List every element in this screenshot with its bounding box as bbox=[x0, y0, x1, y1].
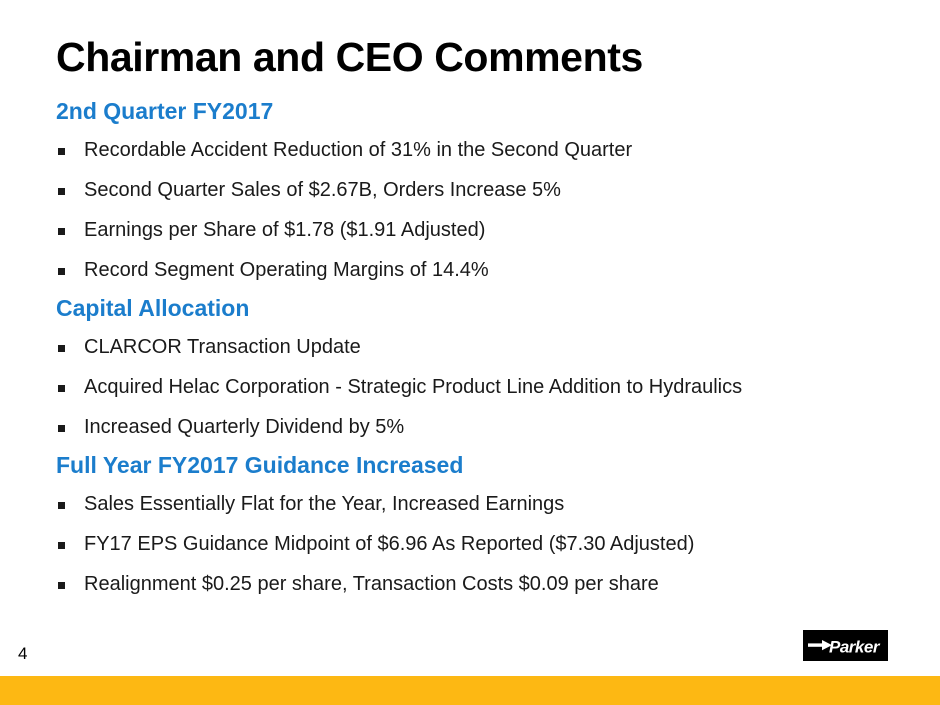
square-bullet-icon bbox=[58, 268, 65, 275]
section-quarter-results: 2nd Quarter FY2017 Recordable Accident R… bbox=[56, 100, 886, 280]
section-heading: Capital Allocation bbox=[56, 297, 886, 320]
list-item: Realignment $0.25 per share, Transaction… bbox=[56, 574, 886, 594]
square-bullet-icon bbox=[58, 148, 65, 155]
square-bullet-icon bbox=[58, 582, 65, 589]
svg-text:Parker: Parker bbox=[829, 638, 881, 657]
list-item: Record Segment Operating Margins of 14.4… bbox=[56, 260, 886, 280]
list-item-label: CLARCOR Transaction Update bbox=[84, 336, 361, 358]
section-heading: Full Year FY2017 Guidance Increased bbox=[56, 454, 886, 477]
list-item: Sales Essentially Flat for the Year, Inc… bbox=[56, 494, 886, 514]
square-bullet-icon bbox=[58, 345, 65, 352]
square-bullet-icon bbox=[58, 425, 65, 432]
list-item: Increased Quarterly Dividend by 5% bbox=[56, 417, 886, 437]
footer-accent-bar bbox=[0, 676, 940, 705]
section-full-year-guidance: Full Year FY2017 Guidance Increased Sale… bbox=[56, 454, 886, 594]
presentation-slide: Chairman and CEO Comments 2nd Quarter FY… bbox=[0, 0, 940, 705]
list-item-label: Acquired Helac Corporation - Strategic P… bbox=[84, 376, 742, 398]
parker-wordmark-icon: Parker bbox=[803, 630, 888, 661]
square-bullet-icon bbox=[58, 502, 65, 509]
list-item-label: Recordable Accident Reduction of 31% in … bbox=[84, 139, 632, 161]
list-item: Earnings per Share of $1.78 ($1.91 Adjus… bbox=[56, 220, 886, 240]
list-item-label: Increased Quarterly Dividend by 5% bbox=[84, 416, 404, 438]
bullet-list: Sales Essentially Flat for the Year, Inc… bbox=[56, 494, 886, 594]
list-item: Recordable Accident Reduction of 31% in … bbox=[56, 140, 886, 160]
list-item-label: Record Segment Operating Margins of 14.4… bbox=[84, 259, 489, 281]
section-heading: 2nd Quarter FY2017 bbox=[56, 100, 886, 123]
page-number: 4 bbox=[18, 644, 27, 664]
parker-logo: Parker bbox=[803, 630, 888, 661]
bullet-list: Recordable Accident Reduction of 31% in … bbox=[56, 140, 886, 280]
list-item: CLARCOR Transaction Update bbox=[56, 337, 886, 357]
list-item: Second Quarter Sales of $2.67B, Orders I… bbox=[56, 180, 886, 200]
slide-body: 2nd Quarter FY2017 Recordable Accident R… bbox=[56, 100, 886, 594]
square-bullet-icon bbox=[58, 228, 65, 235]
list-item-label: Sales Essentially Flat for the Year, Inc… bbox=[84, 493, 564, 515]
list-item-label: Earnings per Share of $1.78 ($1.91 Adjus… bbox=[84, 219, 485, 241]
section-capital-allocation: Capital Allocation CLARCOR Transaction U… bbox=[56, 297, 886, 437]
square-bullet-icon bbox=[58, 188, 65, 195]
list-item-label: FY17 EPS Guidance Midpoint of $6.96 As R… bbox=[84, 533, 694, 555]
list-item: Acquired Helac Corporation - Strategic P… bbox=[56, 377, 886, 397]
page-title: Chairman and CEO Comments bbox=[56, 36, 643, 79]
list-item: FY17 EPS Guidance Midpoint of $6.96 As R… bbox=[56, 534, 886, 554]
bullet-list: CLARCOR Transaction Update Acquired Hela… bbox=[56, 337, 886, 437]
list-item-label: Second Quarter Sales of $2.67B, Orders I… bbox=[84, 179, 561, 201]
square-bullet-icon bbox=[58, 542, 65, 549]
square-bullet-icon bbox=[58, 385, 65, 392]
list-item-label: Realignment $0.25 per share, Transaction… bbox=[84, 573, 659, 595]
